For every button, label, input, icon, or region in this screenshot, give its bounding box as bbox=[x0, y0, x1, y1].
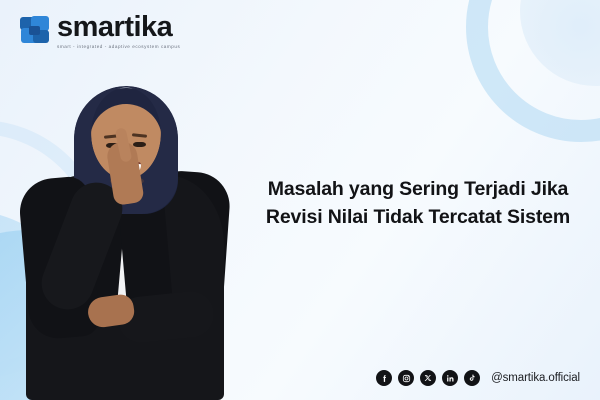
brand-logo: smartika smart - integrated - adaptive e… bbox=[20, 13, 180, 50]
x-twitter-icon[interactable] bbox=[420, 370, 436, 386]
logo-square-center bbox=[29, 26, 40, 35]
ring-glow-decoration bbox=[520, 0, 600, 86]
instagram-icon[interactable] bbox=[398, 370, 414, 386]
brand-logo-text: smartika smart - integrated - adaptive e… bbox=[57, 13, 180, 50]
social-media-bar: @smartika.official bbox=[376, 370, 580, 386]
facebook-icon[interactable] bbox=[376, 370, 392, 386]
photo-eye-right bbox=[133, 142, 146, 147]
presenter-photo bbox=[18, 85, 233, 400]
smartika-logo-mark-icon bbox=[20, 16, 50, 46]
promo-graphic-canvas: smartika smart - integrated - adaptive e… bbox=[0, 0, 600, 400]
tiktok-icon[interactable] bbox=[464, 370, 480, 386]
ring-top-right-decoration bbox=[466, 0, 600, 142]
brand-name: smartika bbox=[57, 13, 180, 42]
brand-tagline: smart - integrated - adaptive ecosystem … bbox=[57, 45, 180, 50]
linkedin-icon[interactable] bbox=[442, 370, 458, 386]
page-title: Masalah yang Sering Terjadi Jika Revisi … bbox=[256, 176, 580, 231]
social-handle: @smartika.official bbox=[491, 372, 580, 384]
